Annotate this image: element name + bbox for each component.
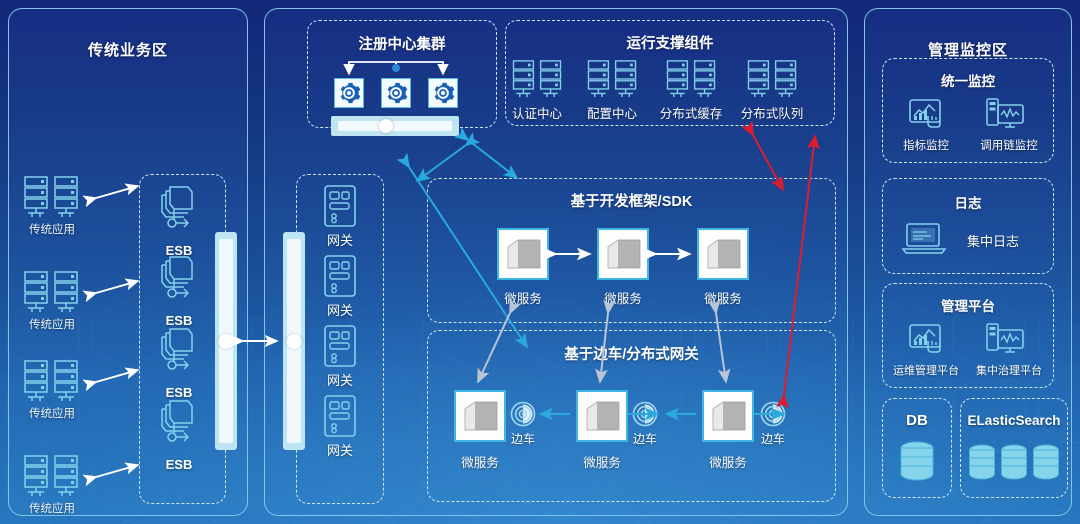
runtime-item-cache	[664, 60, 718, 98]
sidecar-2	[632, 401, 658, 427]
cube-icon	[504, 235, 544, 275]
sidecar-zone-title: 基于边车/分布式网关	[427, 343, 836, 364]
gateway-icon	[324, 185, 356, 227]
governance-monitor-icon	[986, 323, 1024, 355]
runtime-label-queue: 分布式队列	[726, 103, 818, 122]
esb-label-3: ESB	[148, 385, 210, 400]
elasticsearch-icon-wrap	[968, 443, 1060, 483]
gateway-item-2	[324, 255, 356, 297]
server-rack-icon	[22, 176, 80, 218]
gateway-service-bus-knob	[287, 334, 302, 349]
cube-icon	[604, 235, 644, 275]
registry-load-balancer	[331, 116, 459, 136]
sidecar-label-1: 边车	[503, 430, 543, 447]
metrics-dashboard-icon	[908, 98, 944, 130]
ops-dashboard-icon	[908, 323, 944, 355]
sdk-zone-title: 基于开发框架/SDK	[427, 190, 836, 211]
gateway-item-1	[324, 185, 356, 227]
db-icon-wrap	[898, 440, 936, 482]
traditional-app-label-2: 传统应用	[12, 316, 92, 332]
runtime-support-title: 运行支撑组件	[505, 32, 835, 53]
gateway-icon	[324, 395, 356, 437]
sdk-microservice-2	[597, 228, 649, 280]
server-rack-icon	[664, 60, 718, 98]
runtime-label-auth: 认证中心	[496, 103, 578, 122]
esb-icon	[158, 185, 198, 231]
esb-icon	[158, 255, 198, 301]
sidecar-label-3: 边车	[753, 430, 793, 447]
server-rack-icon	[22, 360, 80, 402]
registry-load-balancer-knob	[379, 119, 393, 133]
registry-node-3	[428, 78, 458, 108]
server-rack-icon	[22, 455, 80, 497]
left-zone-title: 传统业务区	[9, 39, 247, 60]
db-label: DB	[882, 412, 952, 429]
cube-icon	[704, 235, 744, 275]
gateway-item-3	[324, 325, 356, 367]
runtime-item-auth	[510, 60, 564, 98]
esb-icon	[158, 327, 198, 373]
sidecar-microservice-2	[576, 390, 628, 442]
elasticsearch-label: ELasticSearch	[956, 413, 1072, 428]
traditional-app-2	[22, 271, 80, 313]
traditional-app-3	[22, 360, 80, 402]
runtime-item-config	[585, 60, 639, 98]
sidecar-microservice-3	[702, 390, 754, 442]
sdk-microservice-1	[497, 228, 549, 280]
sidecar-microservice-label-1: 微服务	[450, 452, 510, 471]
registry-title: 注册中心集群	[307, 33, 497, 54]
cube-icon	[583, 397, 623, 437]
traditional-app-label-1: 传统应用	[12, 221, 92, 237]
runtime-label-cache: 分布式缓存	[645, 103, 737, 122]
sidecar-label-2: 边车	[625, 430, 665, 447]
metrics-monitor-label: 指标监控	[888, 137, 964, 153]
esb-service-bus-knob	[219, 334, 234, 349]
server-rack-icon	[745, 60, 799, 98]
ops-platform-label: 运维管理平台	[880, 362, 972, 378]
esb-service-bus	[215, 232, 237, 450]
gear-icon	[336, 80, 362, 106]
gateway-label-2: 网关	[310, 300, 370, 319]
esb-icon	[158, 399, 198, 445]
server-rack-icon	[22, 271, 80, 313]
esb-item-4	[158, 399, 198, 445]
gear-icon	[383, 80, 409, 106]
sdk-microservice-label-2: 微服务	[593, 288, 653, 307]
esb-item-1	[158, 185, 198, 231]
registry-node-1	[334, 78, 364, 108]
sidecar-spiral-icon	[632, 401, 658, 427]
tracing-monitor-item	[986, 98, 1024, 130]
gear-icon	[430, 80, 456, 106]
sidecar-spiral-icon	[510, 401, 536, 427]
sdk-microservice-label-3: 微服务	[693, 288, 753, 307]
traditional-app-1	[22, 176, 80, 218]
registry-node-2	[381, 78, 411, 108]
gateway-label-1: 网关	[310, 230, 370, 249]
central-log-item	[902, 222, 946, 256]
esb-item-3	[158, 327, 198, 373]
gateway-item-4	[324, 395, 356, 437]
right-zone-title: 管理监控区	[865, 39, 1071, 60]
cube-icon	[709, 397, 749, 437]
laptop-log-icon	[902, 222, 946, 256]
gateway-icon	[324, 255, 356, 297]
logs-title: 日志	[882, 192, 1054, 212]
sidecar-microservice-1	[454, 390, 506, 442]
gateway-label-4: 网关	[310, 440, 370, 459]
monitoring-title: 统一监控	[882, 70, 1054, 90]
sidecar-spiral-icon	[760, 401, 786, 427]
traditional-app-4	[22, 455, 80, 497]
governance-platform-item	[986, 323, 1024, 355]
architecture-diagram-page: { "diagram": { "title": "微服务架构示意图", "col…	[0, 0, 1080, 524]
sidecar-microservice-label-2: 微服务	[572, 452, 632, 471]
sdk-microservice-label-1: 微服务	[493, 288, 553, 307]
governance-platform-label: 集中治理平台	[963, 362, 1055, 378]
gateway-icon	[324, 325, 356, 367]
sidecar-microservice-label-3: 微服务	[698, 452, 758, 471]
platform-title: 管理平台	[882, 295, 1054, 315]
esb-item-2	[158, 255, 198, 301]
gateway-label-3: 网关	[310, 370, 370, 389]
sidecar-3	[760, 401, 786, 427]
tracing-monitor-label: 调用链监控	[963, 137, 1055, 153]
traditional-app-label-4: 传统应用	[12, 500, 92, 516]
registry-load-balancer-track	[338, 121, 452, 131]
sidecar-1	[510, 401, 536, 427]
runtime-label-config: 配置中心	[571, 103, 653, 122]
metrics-monitor-item	[908, 98, 944, 130]
runtime-item-queue	[745, 60, 799, 98]
tracing-monitor-icon	[986, 98, 1024, 130]
database-icon	[898, 440, 936, 482]
gateway-service-bus	[283, 232, 305, 450]
esb-label-2: ESB	[148, 313, 210, 328]
sdk-microservice-3	[697, 228, 749, 280]
traditional-app-label-3: 传统应用	[12, 405, 92, 421]
server-rack-icon	[585, 60, 639, 98]
esb-label-4: ESB	[148, 457, 210, 472]
central-log-label: 集中日志	[955, 231, 1031, 250]
cube-icon	[461, 397, 501, 437]
database-icon	[968, 443, 1060, 483]
server-rack-icon	[510, 60, 564, 98]
ops-platform-item	[908, 323, 944, 355]
